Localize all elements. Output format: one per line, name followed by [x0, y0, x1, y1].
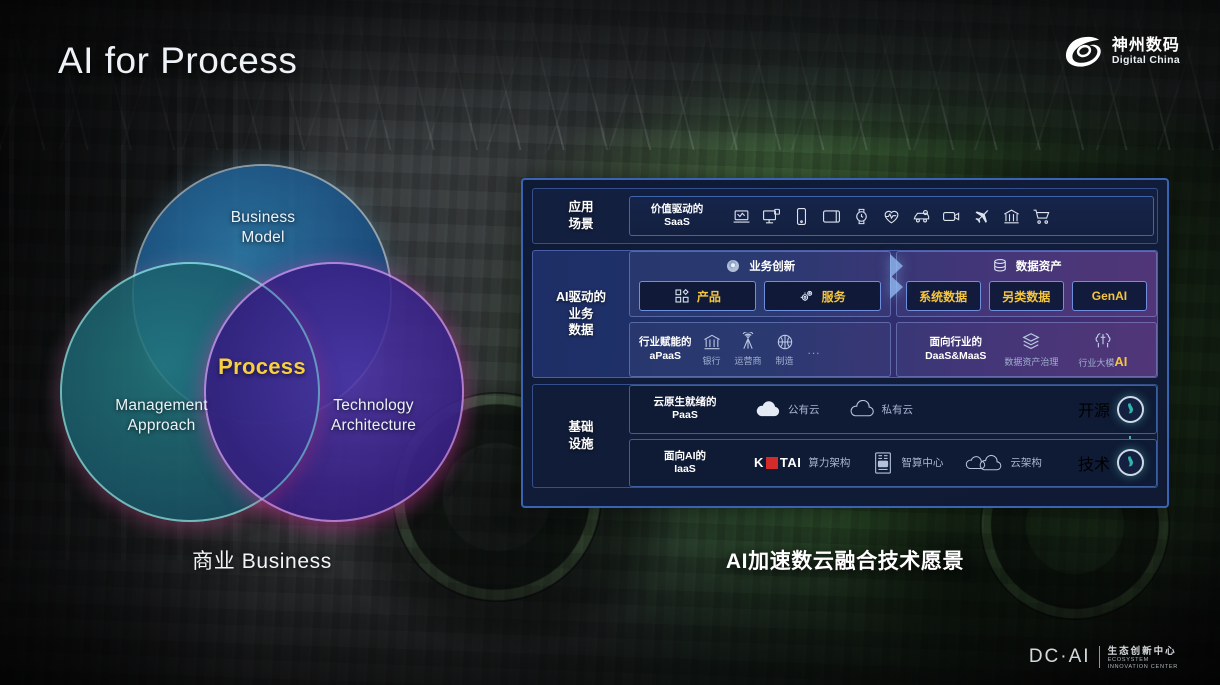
- architecture-panel: 应用 场景 价值驱动的 SaaS: [521, 178, 1169, 508]
- smartwatch-icon: [852, 207, 871, 226]
- technology-label: 技术: [1078, 451, 1110, 475]
- chip-service[interactable]: 服务: [764, 281, 881, 311]
- svg-text:AI: AI: [881, 462, 885, 467]
- arch-row-application-scenarios: 应用 场景 价值驱动的 SaaS: [532, 188, 1158, 244]
- footer-name-en-1: ECOSYSTEM: [1108, 657, 1178, 664]
- arch-row-label-application-scenarios: 应用 场景: [533, 189, 629, 243]
- chip-genai[interactable]: GenAI: [1072, 281, 1147, 311]
- item-banking: 银行: [702, 332, 722, 367]
- car-icon: [912, 207, 931, 226]
- open-source-label: 开源: [1078, 397, 1110, 421]
- item-compute-architecture: KTAI 算力架构: [754, 455, 850, 470]
- business-innovation-head: 业务创新: [724, 257, 795, 275]
- bar-cloud-native-paas: 云原生就绪的 PaaS 公有云 私有云 开源: [629, 385, 1157, 434]
- iaas-items: KTAI 算力架构 AI 智算中心 云架构: [754, 451, 1078, 475]
- gear-globe-icon: [775, 332, 795, 352]
- apaas-items: 银行 运营商 制造 ...: [702, 332, 821, 367]
- brain-circuit-icon: [1092, 330, 1114, 352]
- flow-arrow-lower: [890, 275, 903, 299]
- outline-cloud-icon: [848, 400, 875, 418]
- arch-row-label-infrastructure: 基础 设施: [533, 385, 629, 487]
- cell-business-innovation: 业务创新 产品 服务: [629, 251, 891, 317]
- daas-maas-items: 数据资产治理 行业大模AI: [1004, 330, 1127, 369]
- item-banking-label: 银行: [702, 354, 720, 367]
- data-assets-title: 数据资产: [1016, 258, 1062, 274]
- apaas-more-dots: ...: [808, 343, 821, 357]
- cell-industry-apaas: 行业赋能的 aPaaS 银行 运营商 制造: [629, 322, 891, 377]
- item-operators: 运营商: [735, 332, 762, 367]
- antenna-tower-icon: [738, 332, 758, 352]
- footer-logo: DC·AI 生态创新中心 ECOSYSTEM INNOVATION CENTER: [1029, 643, 1178, 671]
- cell-data-assets: 数据资产 系统数据 另类数据 GenAI: [896, 251, 1158, 317]
- item-private-cloud-label: 私有云: [882, 402, 914, 417]
- airplane-icon: [972, 207, 991, 226]
- smartphone-icon: [792, 207, 811, 226]
- layered-data-icon: [1020, 331, 1042, 353]
- ai-upper-cells: 业务创新 产品 服务: [629, 251, 1157, 317]
- arch-row-ai-driven-business-data: AI驱动的 业务 数据 业务创新 产品 服务: [532, 250, 1158, 378]
- item-intelligent-computing-center-label: 智算中心: [901, 455, 943, 470]
- heartbeat-icon: [882, 207, 901, 226]
- venn-label-business-model: Business Model: [188, 208, 338, 248]
- multi-cloud-icon: [965, 454, 1003, 472]
- database-icon: [991, 257, 1009, 275]
- chip-product-label: 产品: [697, 288, 721, 305]
- footer-name-en-2: INNOVATION CENTER: [1108, 664, 1178, 671]
- paas-kicker: 云原生就绪的 PaaS: [642, 396, 728, 422]
- laptop-icon: [732, 207, 751, 226]
- item-manufacturing: 制造: [775, 332, 795, 367]
- business-innovation-chips: 产品 服务: [639, 281, 881, 311]
- iaas-kicker: 面向AI的 IaaS: [642, 450, 728, 476]
- paas-items: 公有云 私有云: [754, 400, 1078, 418]
- ai-chip-icon: AI: [872, 451, 894, 475]
- bank-icon: [1002, 207, 1021, 226]
- item-public-cloud-label: 公有云: [788, 402, 820, 417]
- arch-row-infrastructure: 基础 设施 云原生就绪的 PaaS 公有云 私有云 开源: [532, 384, 1158, 488]
- footer-divider: [1099, 646, 1100, 668]
- saas-box: 价值驱动的 SaaS: [629, 196, 1154, 236]
- openanolis-ring-icon: [1117, 396, 1144, 423]
- bar-ai-oriented-iaas: 面向AI的 IaaS KTAI 算力架构 AI 智算中心 云架构: [629, 439, 1157, 488]
- venn-circle-technology-architecture: [206, 264, 462, 520]
- venn-label-management-approach: Management Approach: [74, 396, 249, 436]
- item-industry-large-model-label: 行业大模AI: [1078, 354, 1127, 369]
- neural-cluster-icon: [724, 257, 742, 275]
- openanolis-ring-icon-2: [1117, 449, 1144, 476]
- item-public-cloud: 公有云: [754, 400, 820, 418]
- venn-diagram: Business Model Management Approach Techn…: [62, 166, 462, 516]
- saas-kicker: 价值驱动的 SaaS: [640, 203, 714, 229]
- chip-system-data[interactable]: 系统数据: [906, 281, 981, 311]
- grid-blocks-icon: [674, 288, 690, 304]
- business-innovation-title: 业务创新: [749, 258, 795, 274]
- kutai-wordmark: KTAI: [754, 455, 801, 470]
- item-cloud-architecture-label: 云架构: [1010, 455, 1042, 470]
- item-data-governance-label: 数据资产治理: [1004, 355, 1058, 368]
- chip-system-data-label: 系统数据: [919, 288, 967, 305]
- cell-industry-daas-maas: 面向行业的 DaaS&MaaS 数据资产治理 行业大模AI: [896, 322, 1158, 377]
- tablet-icon: [822, 207, 841, 226]
- item-manufacturing-label: 制造: [776, 354, 794, 367]
- video-camera-icon: [942, 207, 961, 226]
- anolis-hook-icon: [1123, 402, 1138, 417]
- ai-lower-cells: 行业赋能的 aPaaS 银行 运营商 制造: [629, 322, 1157, 377]
- item-intelligent-computing-center: AI 智算中心: [872, 451, 943, 475]
- venn-label-technology-architecture: Technology Architecture: [286, 396, 461, 436]
- footer-name-cn: 生态创新中心: [1108, 643, 1178, 657]
- brand-name-en: Digital China: [1112, 55, 1180, 66]
- swoosh-logo-icon: [1065, 36, 1103, 68]
- chip-product[interactable]: 产品: [639, 281, 756, 311]
- chip-alternative-data[interactable]: 另类数据: [989, 281, 1064, 311]
- item-private-cloud: 私有云: [848, 400, 914, 418]
- chip-alternative-data-label: 另类数据: [1002, 288, 1050, 305]
- data-assets-head: 数据资产: [991, 257, 1062, 275]
- filled-cloud-icon: [754, 400, 781, 418]
- desktop-monitor-icon: [762, 207, 781, 226]
- shopping-cart-icon: [1032, 207, 1051, 226]
- item-cloud-architecture: 云架构: [965, 454, 1042, 472]
- paas-right-group: 开源: [1078, 396, 1144, 423]
- apaas-kicker: 行业赋能的 aPaaS: [639, 336, 692, 362]
- scenario-icon-row: [732, 207, 1051, 226]
- venn-center-label-process: Process: [192, 354, 332, 380]
- data-assets-chips: 系统数据 另类数据 GenAI: [906, 281, 1148, 311]
- item-industry-large-model: 行业大模AI: [1078, 330, 1127, 369]
- brand-name-cn: 神州数码: [1112, 38, 1180, 55]
- footer-mark: DC·AI: [1029, 646, 1091, 668]
- venn-caption: 商业 Business: [62, 545, 462, 575]
- ai-suffix: AI: [1114, 354, 1127, 369]
- item-data-governance: 数据资产治理: [1004, 331, 1058, 368]
- brand-logo: 神州数码 Digital China: [1065, 36, 1180, 68]
- daas-maas-kicker: 面向行业的 DaaS&MaaS: [925, 336, 986, 362]
- architecture-caption: AI加速数云融合技术愿景: [521, 545, 1169, 575]
- arch-row-label-ai-driven: AI驱动的 业务 数据: [533, 251, 629, 377]
- iaas-right-group: 技术: [1078, 449, 1144, 476]
- bank-icon: [702, 332, 722, 352]
- slide-title: AI for Process: [58, 40, 297, 82]
- anolis-hook-icon-2: [1123, 455, 1138, 470]
- chip-service-label: 服务: [822, 288, 846, 305]
- gears-icon: [799, 288, 815, 304]
- chip-genai-label: GenAI: [1092, 289, 1127, 303]
- item-compute-architecture-label: 算力架构: [808, 455, 850, 470]
- kutai-square-icon: [766, 457, 778, 469]
- item-operators-label: 运营商: [735, 354, 762, 367]
